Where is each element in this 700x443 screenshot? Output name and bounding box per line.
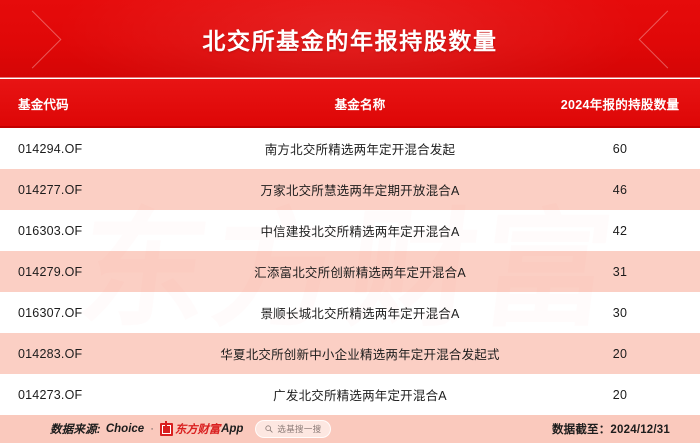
fund-search-pill[interactable]: 选基搜一搜 — [255, 420, 331, 438]
table-header-row: 基金代码 基金名称 2024年报的持股数量 — [0, 79, 700, 128]
cell-fund-name: 华夏北交所创新中小企业精选两年定开混合发起式 — [180, 344, 540, 363]
cell-holding-quantity: 31 — [540, 265, 700, 279]
cell-fund-code: 014273.OF — [0, 388, 180, 402]
table-row: 014273.OF 广发北交所精选两年定开混合A 20 — [0, 374, 700, 415]
title-banner: 北交所基金的年报持股数量 — [0, 0, 700, 78]
cell-fund-code: 014294.OF — [0, 142, 180, 156]
table-row: 016307.OF 景顺长城北交所精选两年定开混合A 30 — [0, 292, 700, 333]
eastmoney-logo-icon — [160, 423, 173, 436]
cell-fund-code: 014277.OF — [0, 183, 180, 197]
column-header-fund-code: 基金代码 — [0, 94, 180, 113]
cell-fund-name: 中信建投北交所精选两年定开混合A — [180, 221, 540, 240]
table-rows: 014294.OF 南方北交所精选两年定开混合发起 60 014277.OF 万… — [0, 128, 700, 415]
source-separator: · — [150, 423, 154, 435]
table-row: 016303.OF 中信建投北交所精选两年定开混合A 42 — [0, 210, 700, 251]
cell-holding-quantity: 30 — [540, 306, 700, 320]
table-row: 014283.OF 华夏北交所创新中小企业精选两年定开混合发起式 20 — [0, 333, 700, 374]
cell-holding-quantity: 20 — [540, 347, 700, 361]
data-cutoff-label: 数据截至：2024/12/31 — [552, 421, 682, 437]
cell-holding-quantity: 60 — [540, 142, 700, 156]
table-row: 014277.OF 万家北交所慧选两年定期开放混合A 46 — [0, 169, 700, 210]
cell-fund-name: 南方北交所精选两年定开混合发起 — [180, 139, 540, 158]
cell-holding-quantity: 20 — [540, 388, 700, 402]
cell-fund-code: 016303.OF — [0, 224, 180, 238]
cell-holding-quantity: 46 — [540, 183, 700, 197]
cell-fund-code: 014279.OF — [0, 265, 180, 279]
table-row: 014294.OF 南方北交所精选两年定开混合发起 60 — [0, 128, 700, 169]
cell-fund-name: 广发北交所精选两年定开混合A — [180, 385, 540, 404]
table-row: 014279.OF 汇添富北交所创新精选两年定开混合A 31 — [0, 251, 700, 292]
cell-fund-name: 景顺长城北交所精选两年定开混合A — [180, 303, 540, 322]
brand-name: 东方财富 — [175, 421, 220, 437]
page-title: 北交所基金的年报持股数量 — [0, 0, 700, 78]
footer-source-group: 数据来源: Choice · 东方财富 App 选基搜一搜 — [50, 420, 331, 438]
brand-suffix: App — [221, 423, 243, 435]
cell-fund-name: 汇添富北交所创新精选两年定开混合A — [180, 262, 540, 281]
search-icon — [265, 425, 273, 433]
cell-holding-quantity: 42 — [540, 224, 700, 238]
brand-logo: 东方财富 App — [160, 421, 244, 437]
source-label: 数据来源: — [50, 421, 101, 437]
cell-fund-code: 016307.OF — [0, 306, 180, 320]
footer-bar: 数据来源: Choice · 东方财富 App 选基搜一搜 数据截至：2024/… — [0, 415, 700, 443]
column-header-fund-name: 基金名称 — [180, 94, 540, 113]
infographic-page: 北交所基金的年报持股数量 基金代码 基金名称 2024年报的持股数量 东方财富 … — [0, 0, 700, 443]
table-body: 东方财富 014294.OF 南方北交所精选两年定开混合发起 60 014277… — [0, 128, 700, 415]
cell-fund-code: 014283.OF — [0, 347, 180, 361]
source-value: Choice — [106, 423, 144, 435]
search-pill-label: 选基搜一搜 — [277, 423, 321, 435]
column-header-holding-quantity: 2024年报的持股数量 — [540, 94, 700, 113]
cell-fund-name: 万家北交所慧选两年定期开放混合A — [180, 180, 540, 199]
